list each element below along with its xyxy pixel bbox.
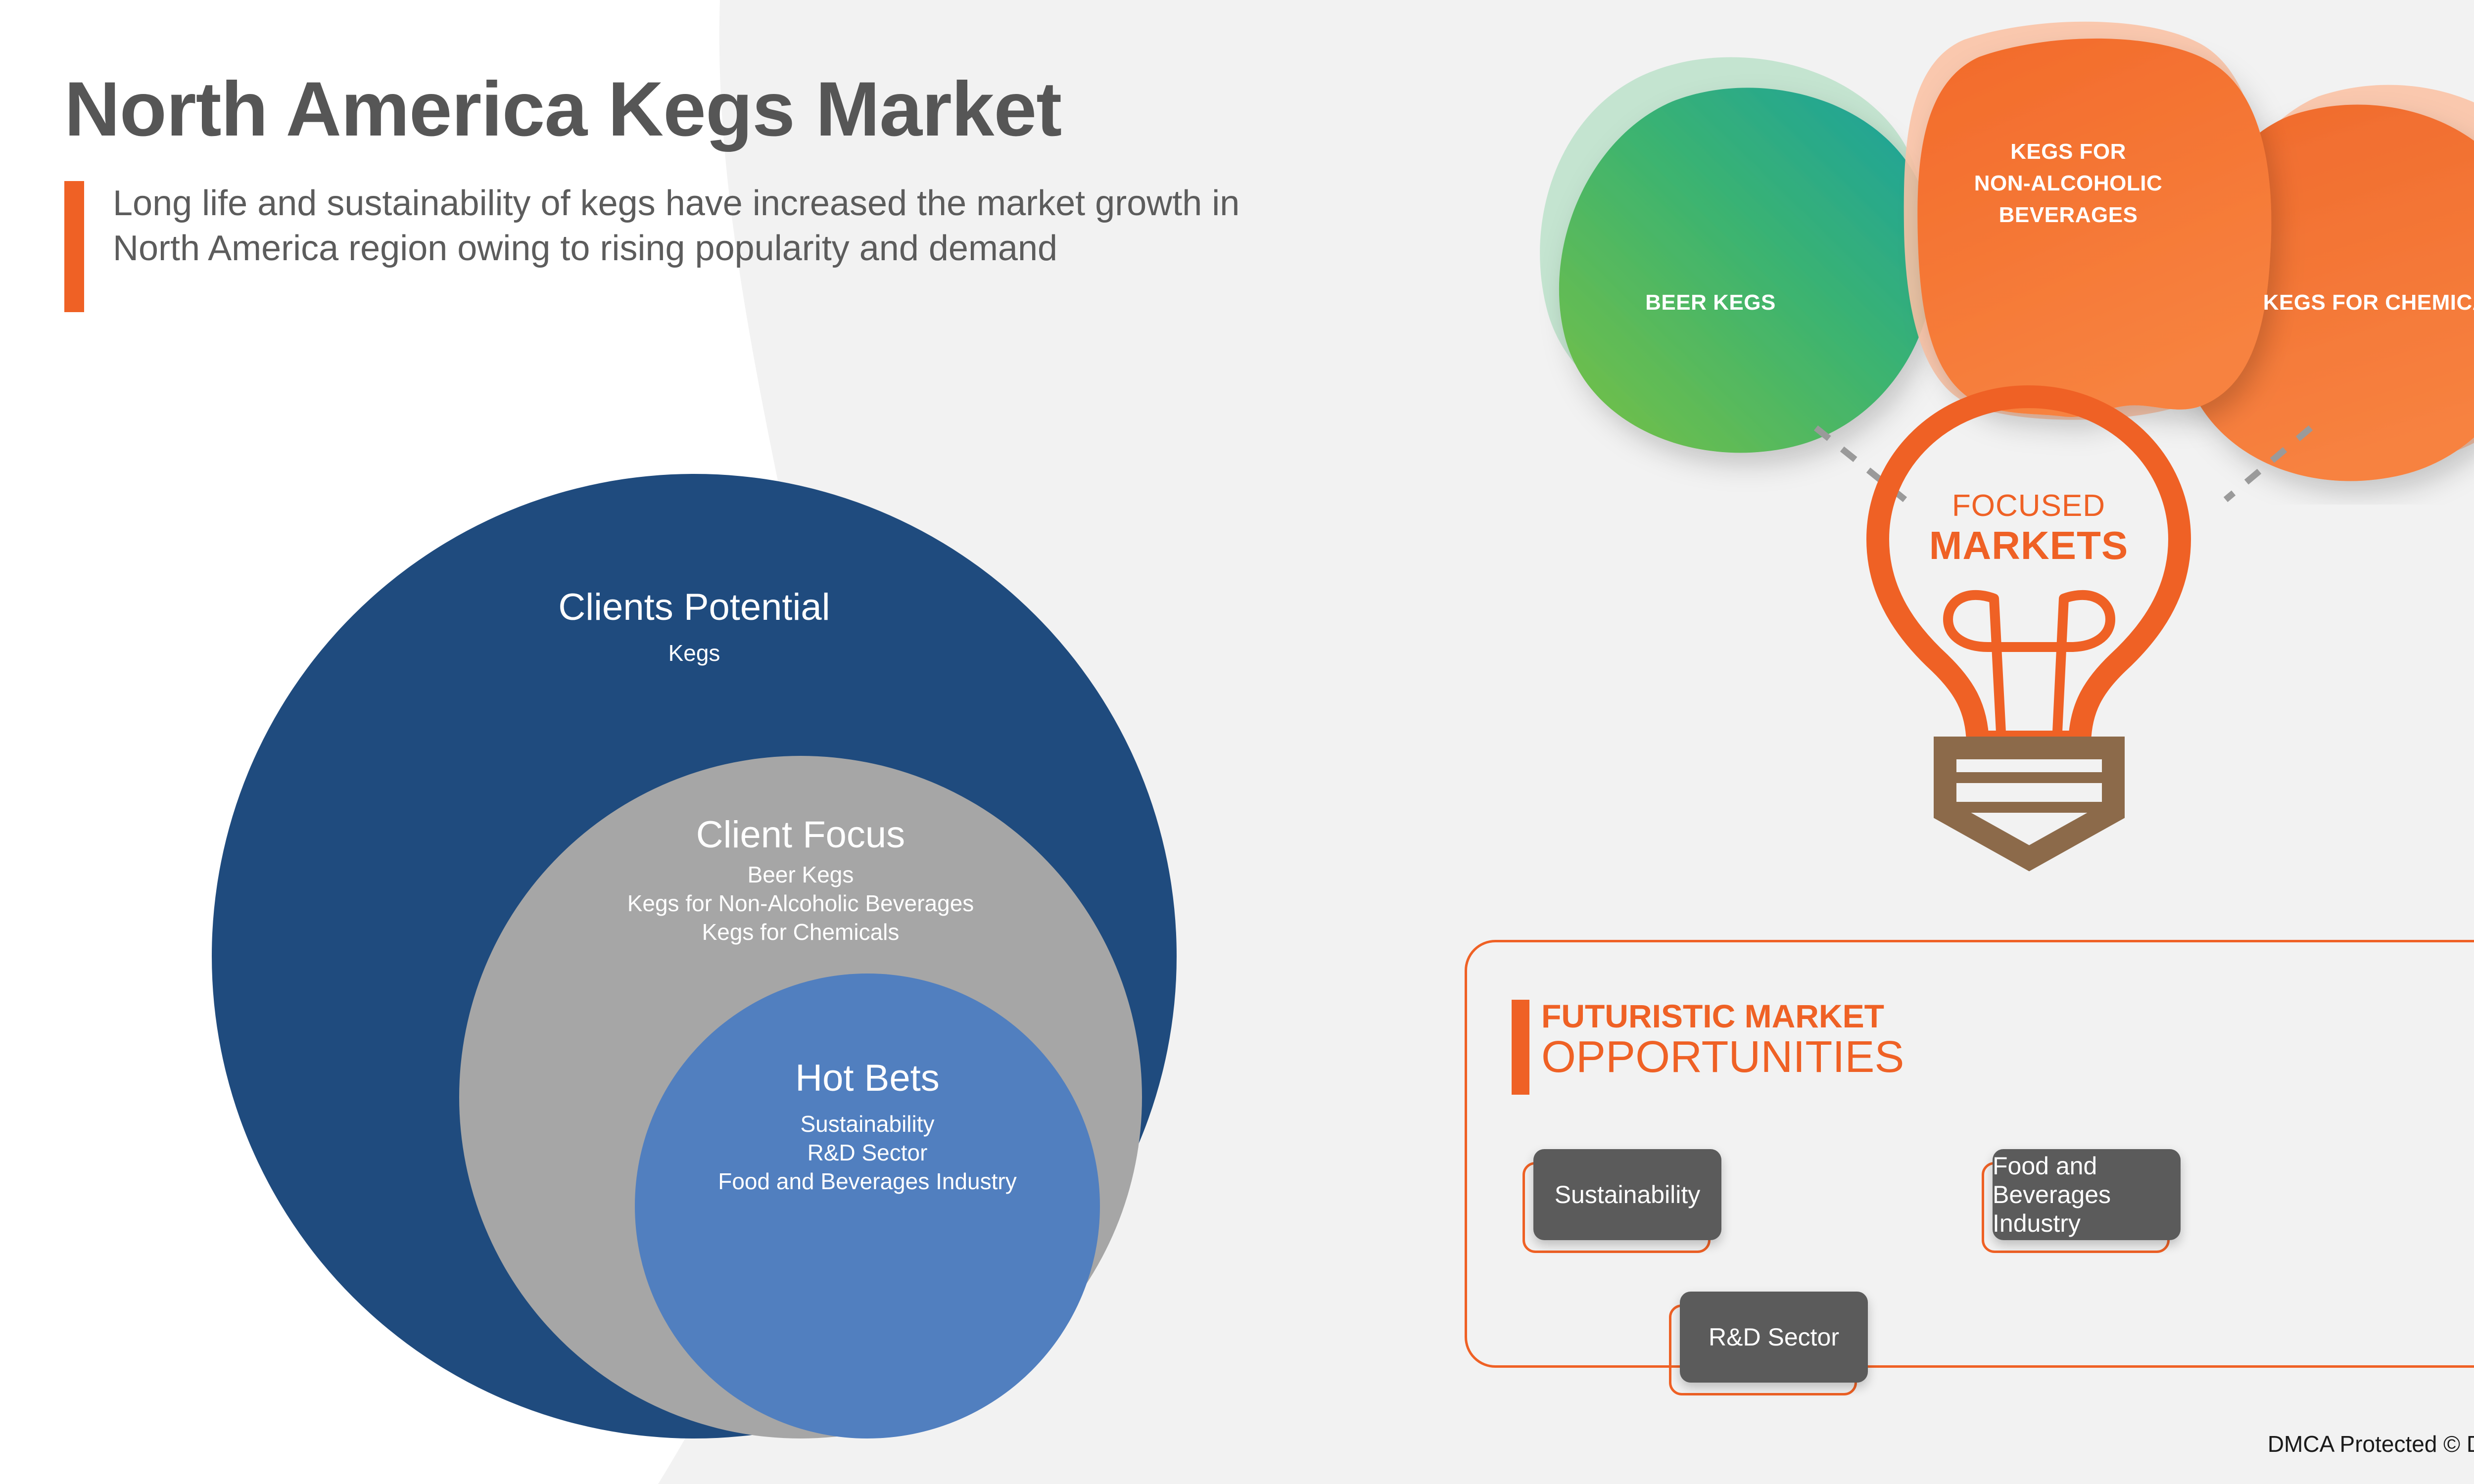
page-title: North America Kegs Market [64, 69, 1450, 150]
blob-label-chemicals: KEGS FOR CHEMICALS [2232, 287, 2474, 319]
blob-label-beer-kegs: BEER KEGS [1604, 287, 1817, 319]
circle-middle-heading: Client Focus [459, 814, 1142, 856]
futuristic-market-opportunities-panel: FUTURISTIC MARKET OPPORTUNITIES Sustaina… [1465, 940, 2474, 1368]
circle-hot-bets: Hot Bets Sustainability R&D Sector Food … [635, 974, 1100, 1438]
circle-outer-heading: Clients Potential [212, 587, 1177, 628]
opportunities-title-block: FUTURISTIC MARKET OPPORTUNITIES [1541, 1000, 1904, 1080]
opportunities-header: FUTURISTIC MARKET OPPORTUNITIES [1512, 1000, 1904, 1095]
circle-outer-items: Kegs [212, 639, 1177, 668]
opportunities-title-line1: FUTURISTIC MARKET [1541, 1000, 1904, 1033]
lightbulb-caption: FOCUSED MARKETS [1833, 491, 2224, 567]
circle-middle-items: Beer Kegs Kegs for Non-Alcoholic Beverag… [459, 861, 1142, 947]
page-subtitle: Long life and sustainability of kegs hav… [113, 181, 1261, 271]
card-label-rd-sector[interactable]: R&D Sector [1680, 1292, 1868, 1383]
opportunity-card-food-and-beverages[interactable]: Food and Beverages Industry [1982, 1149, 2170, 1240]
opportunity-card-sustainability[interactable]: Sustainability [1522, 1149, 1711, 1240]
circle-inner-items: Sustainability R&D Sector Food and Bever… [635, 1110, 1100, 1196]
blob-label-non-alcoholic: KEGS FOR NON-ALCOHOLIC BEVERAGES [1945, 136, 2192, 231]
opportunity-card-rd-sector[interactable]: R&D Sector [1669, 1292, 1857, 1383]
opportunities-accent-bar [1512, 1000, 1529, 1095]
lightbulb-caption-line1: FOCUSED [1833, 491, 2224, 521]
header: North America Kegs Market Long life and … [64, 69, 1450, 312]
lightbulb-graphic: FOCUSED MARKETS [1833, 376, 2224, 890]
card-label-sustainability[interactable]: Sustainability [1533, 1149, 1721, 1240]
opportunities-title-line2: OPPORTUNITIES [1541, 1035, 1904, 1080]
circle-inner-heading: Hot Bets [635, 1058, 1100, 1099]
orange-accent-bar [64, 181, 84, 312]
concentric-circles-diagram: Clients Potential Kegs Client Focus Beer… [212, 474, 1177, 1451]
infographic-canvas: North America Kegs Market Long life and … [0, 0, 2474, 1484]
lightbulb-caption-line2: MARKETS [1833, 524, 2224, 567]
subtitle-block: Long life and sustainability of kegs hav… [64, 181, 1450, 312]
circle-middle-text: Client Focus Beer Kegs Kegs for Non-Alco… [459, 814, 1142, 946]
lightbulb-icon [1833, 376, 2224, 890]
circle-inner-text: Hot Bets Sustainability R&D Sector Food … [635, 1058, 1100, 1196]
footer-copyright: DMCA Protected © DataBridge [2268, 1431, 2474, 1457]
card-label-food-and-beverages[interactable]: Food and Beverages Industry [1993, 1149, 2181, 1240]
circle-outer-text: Clients Potential Kegs [212, 587, 1177, 668]
